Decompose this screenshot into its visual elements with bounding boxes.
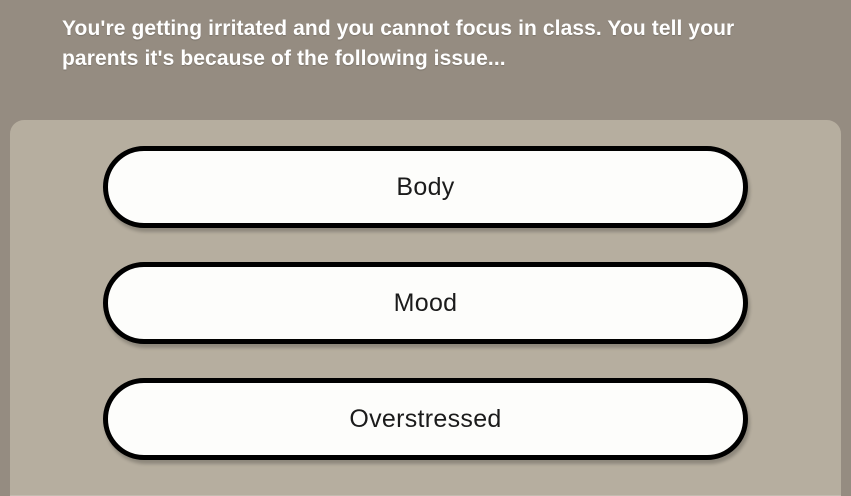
- answer-option-3[interactable]: Overstressed: [103, 378, 748, 460]
- answer-list: Body Mood Overstressed: [10, 120, 841, 460]
- answer-option-2-label: Mood: [108, 267, 743, 339]
- answer-option-2[interactable]: Mood: [103, 262, 748, 344]
- game-screen: You're getting irritated and you cannot …: [0, 0, 851, 496]
- answer-panel: Body Mood Overstressed: [10, 120, 841, 496]
- answer-option-3-label: Overstressed: [108, 383, 743, 455]
- answer-option-1-label: Body: [108, 151, 743, 223]
- answer-option-1[interactable]: Body: [103, 146, 748, 228]
- question-prompt: You're getting irritated and you cannot …: [62, 14, 792, 74]
